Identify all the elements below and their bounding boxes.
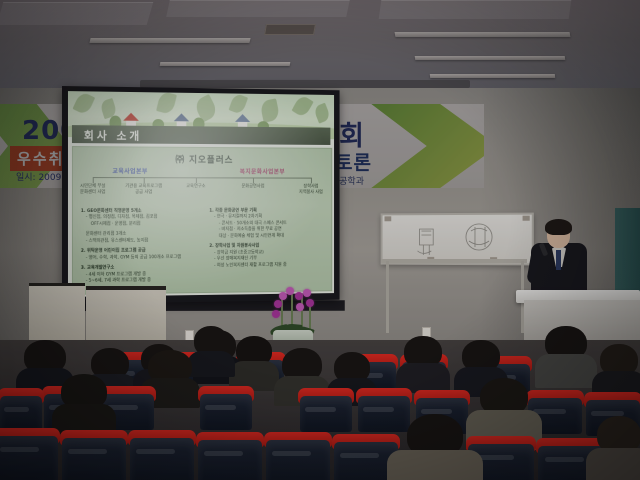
projection-screen: 회사 소개 ㈜ 지오플러스 교육사업본부 복지문화사업본부 시민단체 부설 문화… — [68, 91, 334, 297]
whiteboard-leg — [386, 261, 389, 333]
org-node: 교육연구소 — [172, 184, 220, 190]
division-label-education: 교육사업본부 — [112, 166, 147, 175]
ceiling — [0, 0, 640, 92]
slide-body: ㈜ 지오플러스 교육사업본부 복지문화사업본부 시민단체 부설 문화센터 사업 … — [72, 146, 332, 295]
org-line — [93, 177, 311, 179]
ceiling-light — [430, 74, 555, 78]
orchid-bloom — [286, 287, 294, 295]
audience-member — [56, 374, 112, 420]
leaf-icon — [259, 98, 280, 122]
seat[interactable] — [130, 430, 194, 480]
audience-member — [232, 336, 276, 384]
wall-cabinet — [29, 286, 85, 348]
projection-screen-frame: 회사 소개 ㈜ 지오플러스 교육사업본부 복지문화사업본부 시민단체 부설 문화… — [62, 86, 340, 304]
org-line — [253, 177, 254, 183]
org-line — [93, 177, 94, 183]
orchid-bloom — [295, 292, 303, 300]
slide-title-bar: 회사 소개 — [72, 125, 330, 145]
seat[interactable] — [266, 432, 330, 480]
seat[interactable] — [0, 428, 58, 480]
lecture-hall-photo: 200 우수취업 일시: 2009. 수회 공전략토론 대학교 환경공학과 — [0, 0, 640, 480]
whiteboard-sketch-icon — [383, 215, 532, 264]
screen-roller — [140, 80, 470, 88]
audience-member — [540, 326, 592, 378]
speaker-tie — [556, 250, 561, 270]
audience-member — [474, 378, 534, 436]
org-line — [311, 178, 312, 184]
ceiling-light — [395, 32, 571, 37]
org-node: 문화공연사업 — [229, 184, 276, 190]
ceiling-vent — [264, 24, 316, 35]
audience-member — [596, 344, 640, 392]
audience-member — [278, 348, 326, 392]
company-name: ㈜ 지오플러스 — [73, 152, 331, 166]
leaf-icon — [229, 93, 249, 116]
leaf-icon — [291, 94, 313, 119]
slide-title: 회사 소개 — [84, 127, 142, 143]
orchid-bloom — [272, 310, 280, 318]
slide-text-line: - 여성 노인복지센터 재활 프로그램 지원 중 — [209, 262, 325, 269]
org-line — [144, 177, 145, 183]
slide-text-line: - 5~6세, 7세 과학 프로그램 개발 중 — [81, 277, 204, 285]
org-node: 시민단체 부설 문화센터 사업 — [68, 184, 117, 197]
whiteboard — [381, 213, 534, 266]
orchid-bloom — [296, 303, 304, 311]
leaf-icon — [72, 91, 95, 116]
seat[interactable] — [300, 388, 352, 432]
leaf-icon — [156, 91, 177, 115]
audience-member — [400, 336, 446, 384]
seat[interactable] — [200, 386, 252, 430]
audience-member — [592, 416, 640, 480]
org-node: 기관용 교육프로그램 공급 사업 — [119, 184, 168, 197]
slide-right-column: 1. 각종 문화공연 부문 기획- 연극 · 뮤지컬까지 2차기획- 콘서트 ·… — [209, 208, 325, 269]
ceiling-light — [160, 62, 291, 66]
division-label-welfare: 복지문화사업본부 — [240, 167, 285, 176]
seat[interactable] — [62, 430, 126, 480]
seat[interactable] — [0, 388, 42, 432]
audience-member — [190, 326, 232, 370]
orchid-bloom — [306, 299, 314, 307]
ceiling-light — [89, 38, 250, 43]
seat[interactable] — [198, 432, 262, 480]
orchid-bloom — [274, 300, 282, 308]
org-line — [196, 177, 197, 183]
org-node: 장학사업 지역봉사 사업 — [288, 184, 334, 196]
ceiling-light — [415, 56, 566, 60]
whiteboard-tray — [381, 259, 527, 263]
leaf-icon — [313, 103, 331, 124]
slide-left-column: 1. GEO문화센터 직영운영 5개소- 행신점, 의정점, 디자점, 목제점,… — [81, 209, 204, 285]
orchid-bloom — [303, 289, 311, 297]
audience-member — [396, 414, 474, 480]
speaker-hair — [545, 219, 572, 235]
